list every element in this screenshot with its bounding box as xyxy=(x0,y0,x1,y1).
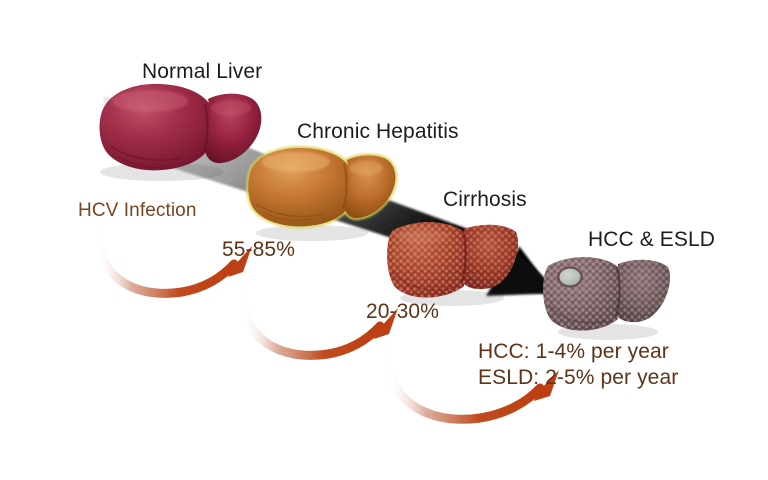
label-normal-liver: Normal Liver xyxy=(142,60,262,84)
tumor-nodule xyxy=(557,267,583,288)
label-hcv-infection: HCV Infection xyxy=(78,200,197,222)
label-hcc-rate: HCC: 1-4% per year xyxy=(478,340,669,364)
hcv-progression-diagram: Normal Liver Chronic Hepatitis Cirrhosis… xyxy=(0,0,768,480)
label-chronic-hepatitis: Chronic Hepatitis xyxy=(297,120,459,144)
label-hcc-esld: HCC & ESLD xyxy=(588,228,715,252)
normal-liver-illustration xyxy=(100,84,262,170)
label-esld-rate: ESLD: 2-5% per year xyxy=(478,366,678,390)
chronic-hepatitis-liver-illustration xyxy=(248,148,395,226)
label-rate-20-30: 20-30% xyxy=(366,300,439,324)
label-cirrhosis: Cirrhosis xyxy=(443,188,527,212)
label-rate-55-85: 55-85% xyxy=(222,238,295,262)
